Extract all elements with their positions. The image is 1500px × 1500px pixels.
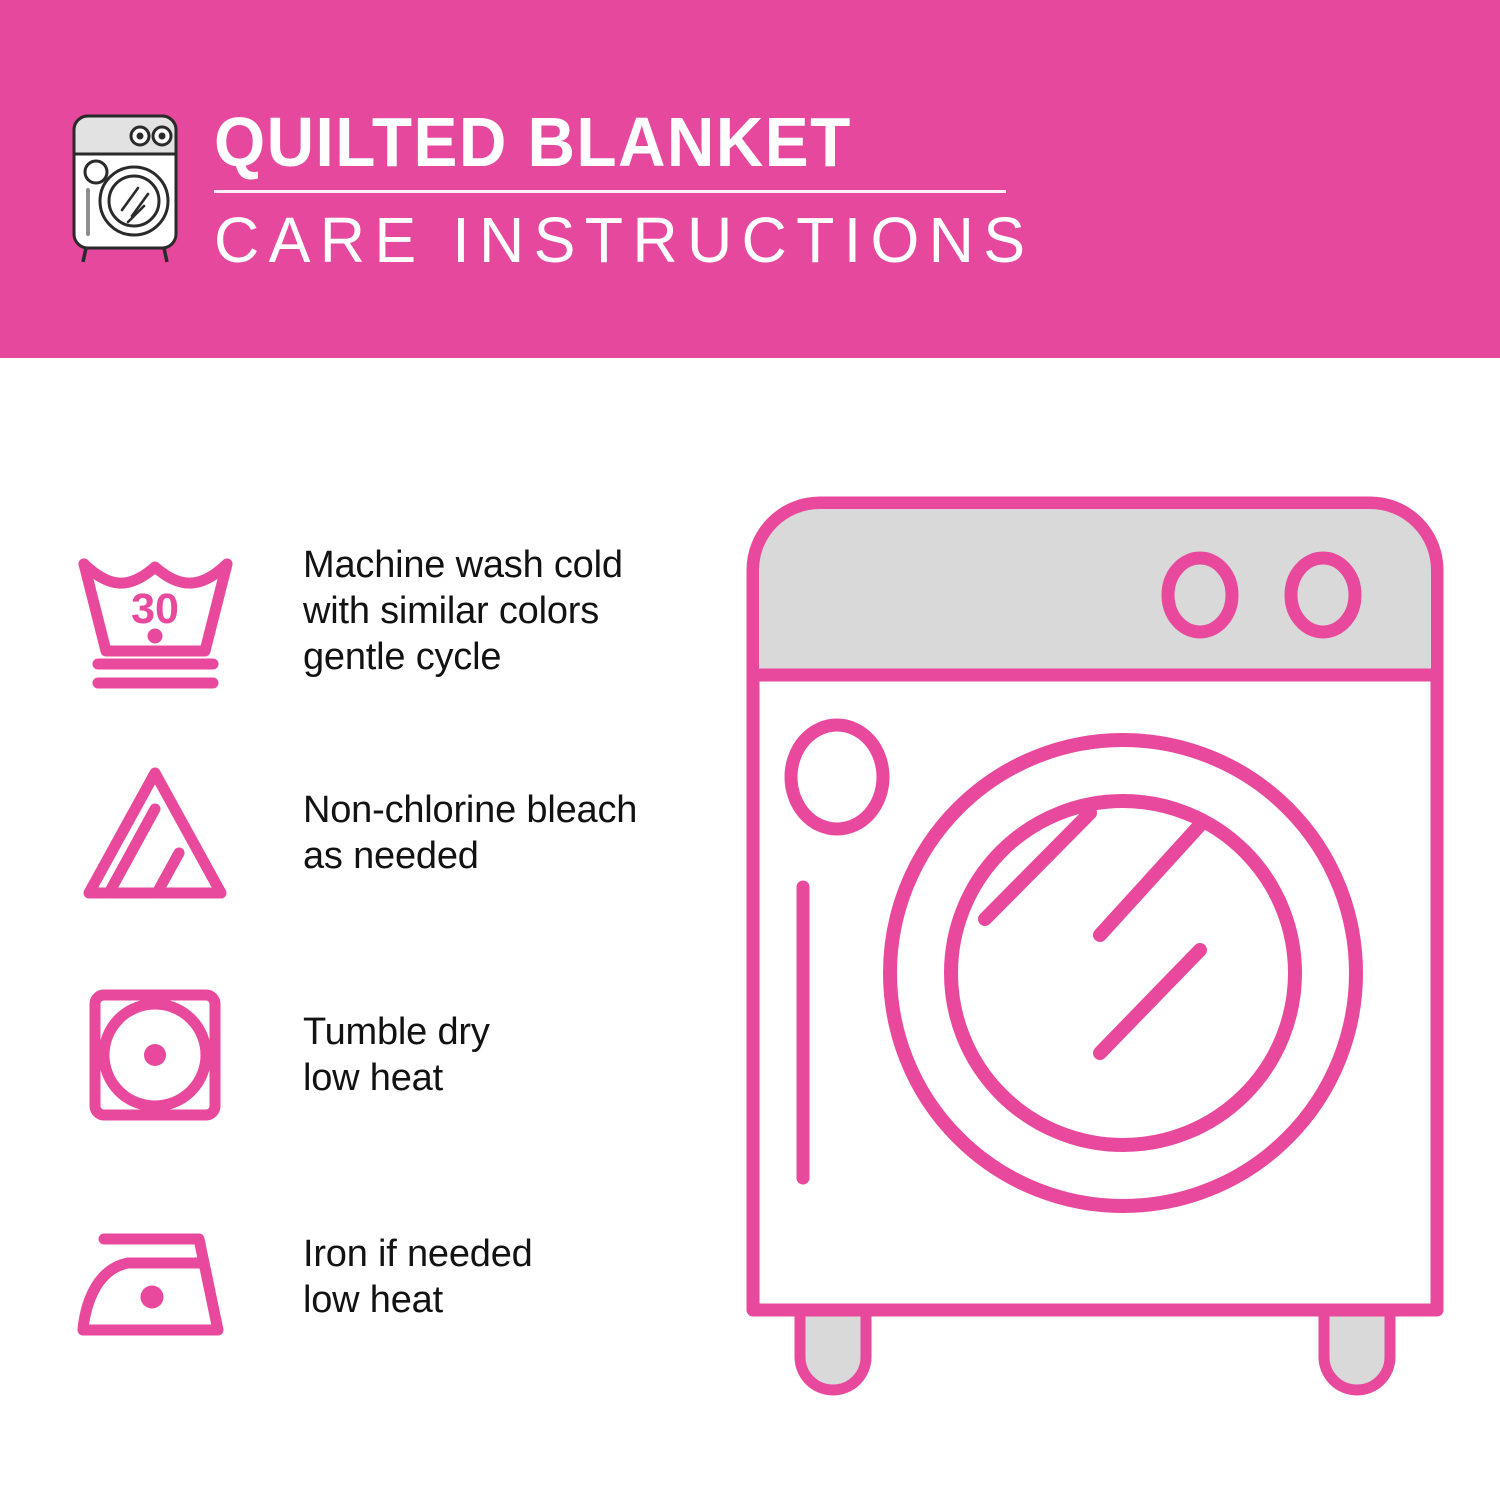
care-instructions-poster: QUILTED BLANKET CARE INSTRUCTIONS 30 [0,0,1500,1500]
front-load-washing-machine-illustration [745,495,1445,1425]
care-row-bleach: Non-chlorine bleach as needed [68,722,708,944]
detergent-dial[interactable] [791,725,883,829]
care-label-iron: Iron if needed low heat [303,1231,533,1323]
tumble-dry-low-icon [68,975,243,1135]
care-label-wash: Machine wash cold with similar colors ge… [303,542,623,680]
header-content: QUILTED BLANKET CARE INSTRUCTIONS [0,0,1051,275]
iron-low-heat-icon [68,1197,243,1357]
care-row-iron: Iron if needed low heat [68,1166,708,1388]
wash-tub-30-gentle-icon: 30 [68,531,243,691]
knob-left[interactable] [1168,558,1232,632]
door-inner-ring [951,801,1295,1145]
washing-machine-icon [62,110,192,265]
care-label-bleach: Non-chlorine bleach as needed [303,787,637,879]
wash-temperature-value: 30 [131,585,179,633]
header-titles: QUILTED BLANKET CARE INSTRUCTIONS [214,104,1051,275]
non-chlorine-bleach-triangle-icon [68,753,243,913]
header-banner: QUILTED BLANKET CARE INSTRUCTIONS [0,0,1500,358]
care-row-tumble-dry: Tumble dry low heat [68,944,708,1166]
title-divider [214,190,1006,193]
care-label-tumble-dry: Tumble dry low heat [303,1009,490,1101]
care-instruction-list: 30 Machine wash cold with similar colors… [68,500,708,1388]
page-title: QUILTED BLANKET [214,104,1001,180]
page-subtitle: CARE INSTRUCTIONS [214,205,1034,275]
care-row-wash: 30 Machine wash cold with similar colors… [68,500,708,722]
knob-right[interactable] [1291,558,1355,632]
